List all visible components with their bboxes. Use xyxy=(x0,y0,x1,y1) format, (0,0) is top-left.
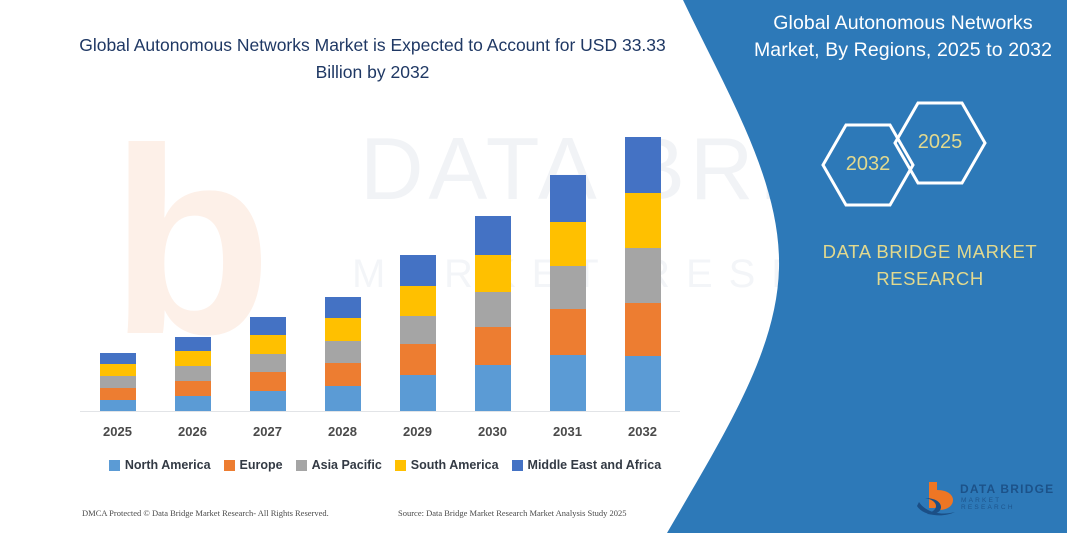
bar-segment-europe xyxy=(100,388,136,400)
bar-segment-europe xyxy=(475,327,511,365)
bar-segment-middle-east-and-africa xyxy=(475,216,511,255)
bar-segment-south-america xyxy=(250,335,286,354)
x-axis-labels: 20252026202720282029203020312032 xyxy=(80,424,680,444)
bar-2030 xyxy=(475,216,511,412)
bar-2028 xyxy=(325,297,361,412)
bar-segment-north-america xyxy=(325,386,361,412)
bar-segment-middle-east-and-africa xyxy=(625,137,661,193)
bar-2025 xyxy=(100,353,136,412)
panel-title: Global Autonomous Networks Market, By Re… xyxy=(748,10,1058,64)
bar-segment-north-america xyxy=(625,356,661,412)
legend-item-south-america[interactable]: South America xyxy=(395,458,499,472)
bar-segment-europe xyxy=(325,363,361,386)
hexagon-2025: 2025 xyxy=(892,100,988,186)
bar-segment-north-america xyxy=(475,365,511,412)
x-axis-line xyxy=(80,411,680,412)
x-label-2025: 2025 xyxy=(88,424,148,439)
bar-segment-north-america xyxy=(250,391,286,412)
bar-segment-asia-pacific xyxy=(400,316,436,344)
bar-segment-south-america xyxy=(625,193,661,248)
bar-segment-europe xyxy=(175,381,211,396)
legend-swatch-icon xyxy=(512,460,523,471)
bar-segment-south-america xyxy=(400,286,436,316)
bar-segment-middle-east-and-africa xyxy=(100,353,136,364)
bar-segment-asia-pacific xyxy=(250,354,286,372)
bar-2031 xyxy=(550,175,586,412)
legend-label: North America xyxy=(125,458,211,472)
bar-segment-north-america xyxy=(175,396,211,412)
x-label-2027: 2027 xyxy=(238,424,298,439)
hexagon-group: 2032 2025 xyxy=(820,100,1020,210)
dbmr-logo-tagline: MARKET RESEARCH xyxy=(961,497,1055,511)
legend-swatch-icon xyxy=(109,460,120,471)
bar-segment-asia-pacific xyxy=(100,376,136,388)
legend-label: South America xyxy=(411,458,499,472)
bar-segment-europe xyxy=(550,309,586,355)
x-label-2029: 2029 xyxy=(388,424,448,439)
dbmr-bridge-icon xyxy=(915,478,959,518)
bar-segment-europe xyxy=(625,303,661,356)
bar-segment-asia-pacific xyxy=(475,292,511,327)
brand-line-2: RESEARCH xyxy=(790,265,1067,292)
bar-2032 xyxy=(625,137,661,412)
bar-segment-north-america xyxy=(400,375,436,412)
bar-2027 xyxy=(250,317,286,412)
dbmr-logo-name: DATA BRIDGE xyxy=(960,482,1054,496)
footer-source: Source: Data Bridge Market Research Mark… xyxy=(398,508,627,518)
legend-label: Middle East and Africa xyxy=(528,458,662,472)
bar-segment-south-america xyxy=(550,222,586,266)
bar-segment-europe xyxy=(250,372,286,391)
x-label-2028: 2028 xyxy=(313,424,373,439)
dbmr-logo: DATA BRIDGE MARKET RESEARCH xyxy=(915,478,1055,520)
chart-title: Global Autonomous Networks Market is Exp… xyxy=(60,32,685,86)
bar-segment-middle-east-and-africa xyxy=(325,297,361,318)
bar-segment-middle-east-and-africa xyxy=(175,337,211,351)
legend-swatch-icon xyxy=(395,460,406,471)
legend-item-asia-pacific[interactable]: Asia Pacific xyxy=(296,458,382,472)
bar-segment-asia-pacific xyxy=(325,341,361,363)
bar-segment-asia-pacific xyxy=(175,366,211,381)
bar-segment-north-america xyxy=(550,355,586,412)
bar-2029 xyxy=(400,255,436,412)
bar-2026 xyxy=(175,337,211,412)
footer-copyright: DMCA Protected © Data Bridge Market Rese… xyxy=(82,508,329,518)
legend-item-middle-east-and-africa[interactable]: Middle East and Africa xyxy=(512,458,662,472)
legend-swatch-icon xyxy=(296,460,307,471)
infographic-canvas: b DATA BRIDGE MARKET RESEARCH Global Aut… xyxy=(0,0,1067,533)
bar-segment-south-america xyxy=(100,364,136,376)
x-label-2032: 2032 xyxy=(613,424,673,439)
legend-swatch-icon xyxy=(224,460,235,471)
legend-item-north-america[interactable]: North America xyxy=(109,458,211,472)
bar-segment-asia-pacific xyxy=(550,266,586,309)
brand-line-1: DATA BRIDGE MARKET xyxy=(790,238,1067,265)
stacked-bar-chart xyxy=(80,110,680,412)
bar-segment-middle-east-and-africa xyxy=(550,175,586,222)
legend-label: Asia Pacific xyxy=(312,458,382,472)
brand-name: DATA BRIDGE MARKET RESEARCH xyxy=(790,238,1067,292)
x-label-2026: 2026 xyxy=(163,424,223,439)
bar-segment-asia-pacific xyxy=(625,248,661,303)
bar-segment-middle-east-and-africa xyxy=(250,317,286,335)
bar-segment-south-america xyxy=(325,318,361,341)
bar-segment-europe xyxy=(400,344,436,375)
legend-item-europe[interactable]: Europe xyxy=(224,458,283,472)
x-label-2030: 2030 xyxy=(463,424,523,439)
legend-label: Europe xyxy=(240,458,283,472)
hexagon-2025-label: 2025 xyxy=(892,131,988,154)
bar-segment-middle-east-and-africa xyxy=(400,255,436,286)
chart-legend: North AmericaEuropeAsia PacificSouth Ame… xyxy=(95,455,675,475)
bar-segment-south-america xyxy=(475,255,511,292)
bar-segment-south-america xyxy=(175,351,211,366)
x-label-2031: 2031 xyxy=(538,424,598,439)
